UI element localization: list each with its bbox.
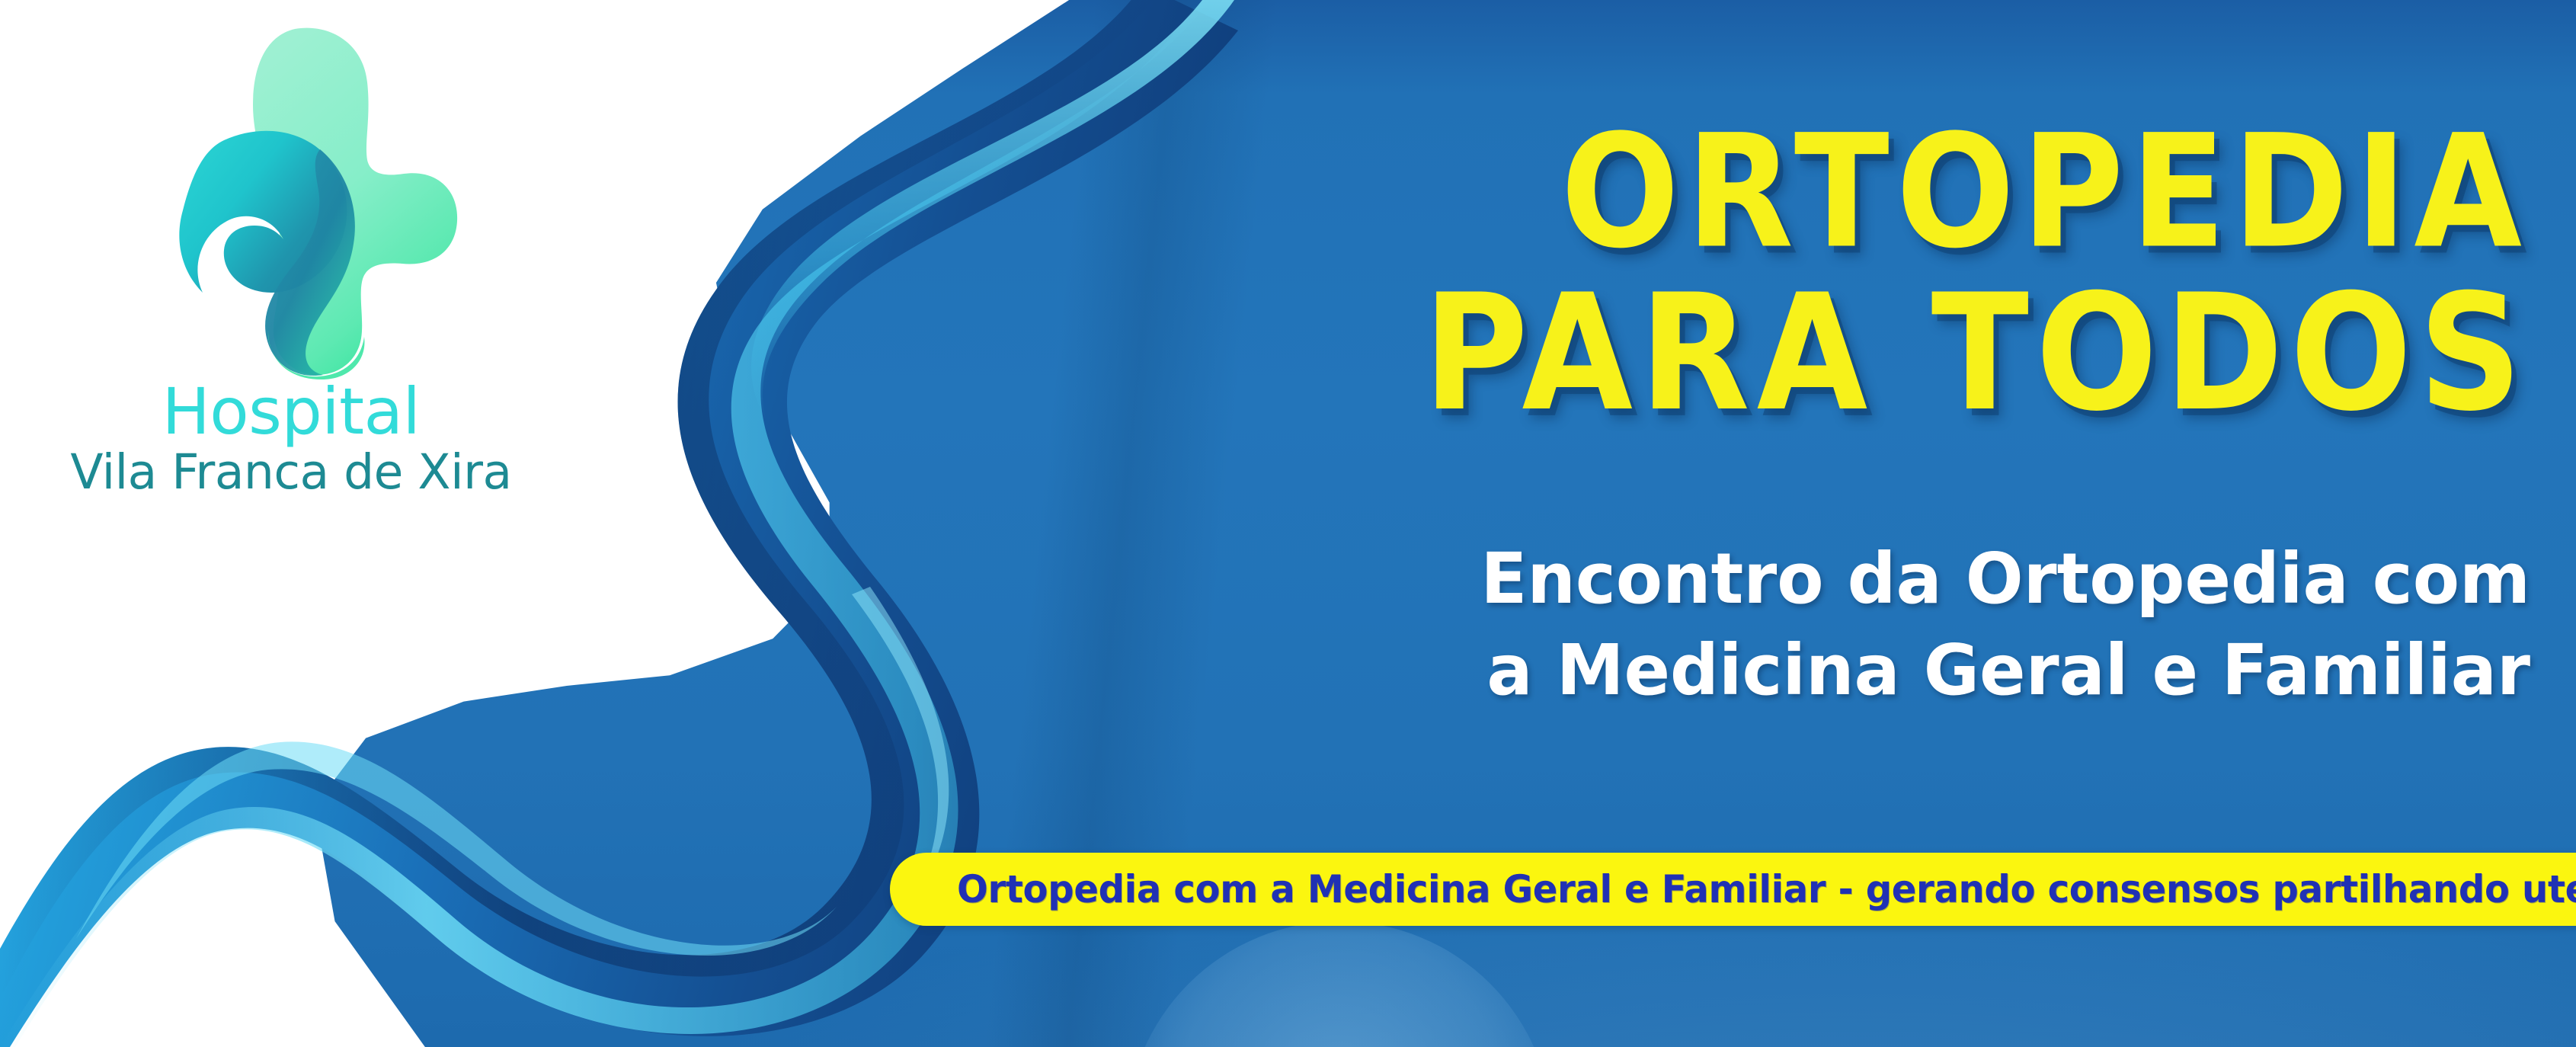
hospital-logo: Hospital Vila Franca de Xira xyxy=(47,21,535,517)
hospital-name-line-2: Vila Franca de Xira xyxy=(47,448,535,496)
event-headline: ORTOPEDIA PARA TODOS xyxy=(1081,114,2529,417)
event-banner: Hospital Vila Franca de Xira ORTOPEDIA P… xyxy=(0,0,2576,1047)
event-subtitle: Encontro da Ortopedia com a Medicina Ger… xyxy=(1083,533,2530,716)
tagline-pill-banner: Ortopedia com a Medicina Geral e Familia… xyxy=(890,853,2576,926)
subtitle-line-2: a Medicina Geral e Familiar xyxy=(1126,625,2530,716)
tagline-text: Ortopedia com a Medicina Geral e Familia… xyxy=(957,867,2576,911)
headline-line-2: PARA TODOS xyxy=(1081,274,2529,434)
subtitle-line-1: Encontro da Ortopedia com xyxy=(1126,533,2530,625)
hospital-cross-swirl-logo-icon xyxy=(139,21,459,379)
hospital-name-line-1: Hospital xyxy=(47,379,535,443)
headline-line-1: ORTOPEDIA xyxy=(1081,114,2529,271)
